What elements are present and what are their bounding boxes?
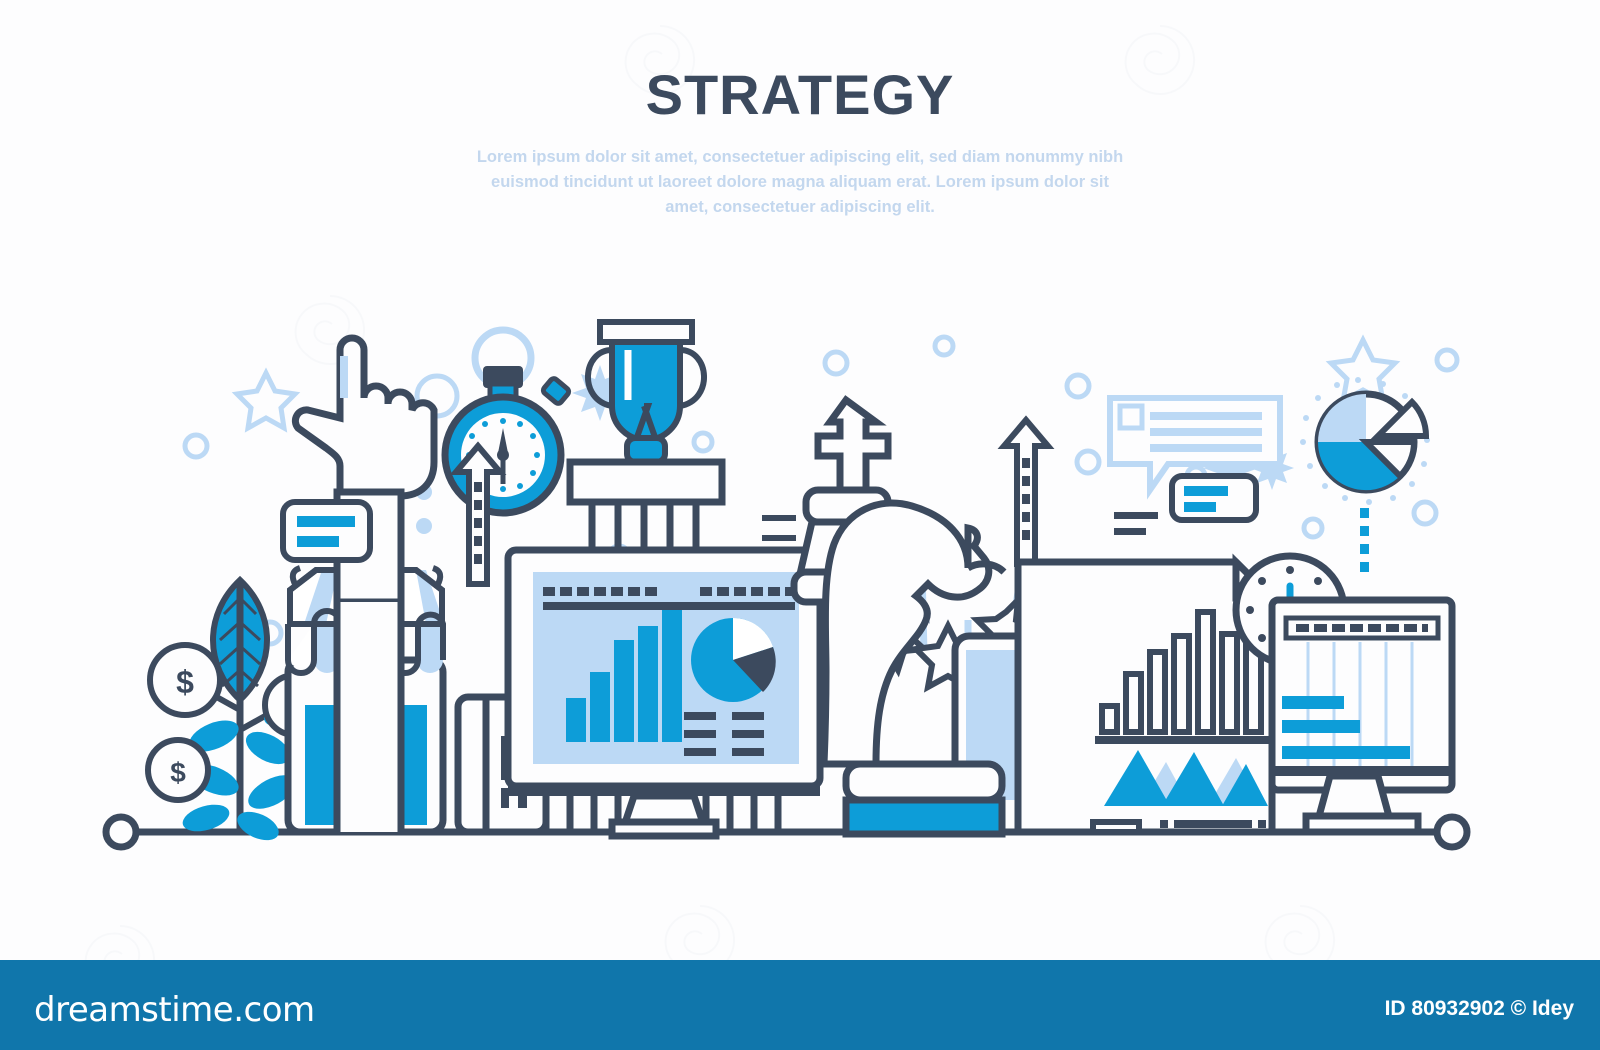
dreamstime-logo: dreamstime.com (34, 990, 315, 1030)
page-subtitle: Lorem ipsum dolor sit amet, consectetuer… (470, 145, 1130, 220)
stopwatch-icon (445, 330, 570, 513)
knight-base (846, 800, 1002, 834)
king-side-dashes (762, 518, 796, 538)
document-text-lines (1160, 820, 1266, 828)
upward-arrow-right (1004, 420, 1048, 564)
baseline-left-node (106, 817, 136, 847)
info-card-side-dashes (1114, 512, 1158, 535)
trophy-handle-right (680, 350, 704, 406)
page-header: STRATEGY Lorem ipsum dolor sit amet, con… (0, 0, 1600, 240)
tag-line-2 (297, 536, 339, 547)
illustration-page: STRATEGY Lorem ipsum dolor sit amet, con… (0, 0, 1600, 1050)
svg-text:$: $ (176, 664, 194, 700)
pie-chart-icon (1300, 377, 1430, 572)
trophy-cup (612, 342, 680, 440)
image-credit: ID 80932902 © Idey (1385, 997, 1574, 1021)
pedestal-columns (592, 502, 696, 550)
trophy-pedestal-top (570, 462, 722, 502)
strategy-illustration: .d{stroke:#3c4a5e;} .nf{fill:none;} .wf{… (0, 250, 1600, 890)
info-card-line-2 (1184, 502, 1216, 512)
document-chart-axis (1095, 736, 1269, 744)
page-title: STRATEGY (0, 62, 1600, 127)
price-tag-card (283, 502, 370, 560)
king-cross (818, 400, 888, 490)
svg-text:$: $ (170, 757, 186, 788)
info-card-line-1 (1184, 486, 1228, 496)
baseline-right-node (1437, 817, 1467, 847)
info-card (1114, 476, 1256, 535)
tag-line-1 (297, 516, 355, 527)
document-thumbnail (1093, 822, 1139, 832)
monitor-pie-chart (691, 618, 776, 702)
knight-collar (846, 764, 1002, 800)
secondary-monitor-gantt (1272, 600, 1452, 832)
desktop-monitor-dashboard (508, 550, 820, 836)
coin-upper: $ (150, 645, 220, 715)
brand-text: dreamstime.com (34, 990, 315, 1030)
chat-text-lines (1150, 412, 1262, 452)
decorative-light-stars (237, 373, 295, 428)
trophy-foot (627, 438, 665, 462)
hand-shape (295, 338, 434, 496)
coin-lower: $ (148, 740, 208, 800)
secondary-toolbar-dashes (1296, 624, 1428, 632)
pie-dashed-connector (1360, 508, 1369, 572)
